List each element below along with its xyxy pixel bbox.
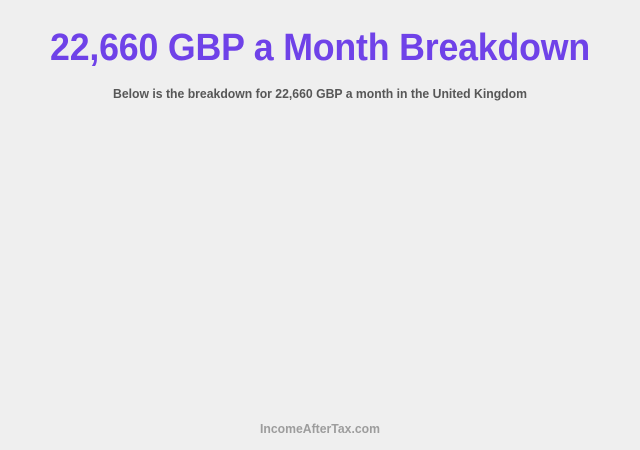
site-watermark: IncomeAfterTax.com (19, 420, 621, 438)
breakdown-page: 22,660 GBP a Month Breakdown Below is th… (0, 0, 640, 450)
page-title: 22,660 GBP a Month Breakdown (19, 26, 621, 70)
chart-plot-area (0, 118, 640, 408)
page-subtitle: Below is the breakdown for 22,660 GBP a … (19, 85, 621, 102)
chart-area (0, 118, 640, 408)
